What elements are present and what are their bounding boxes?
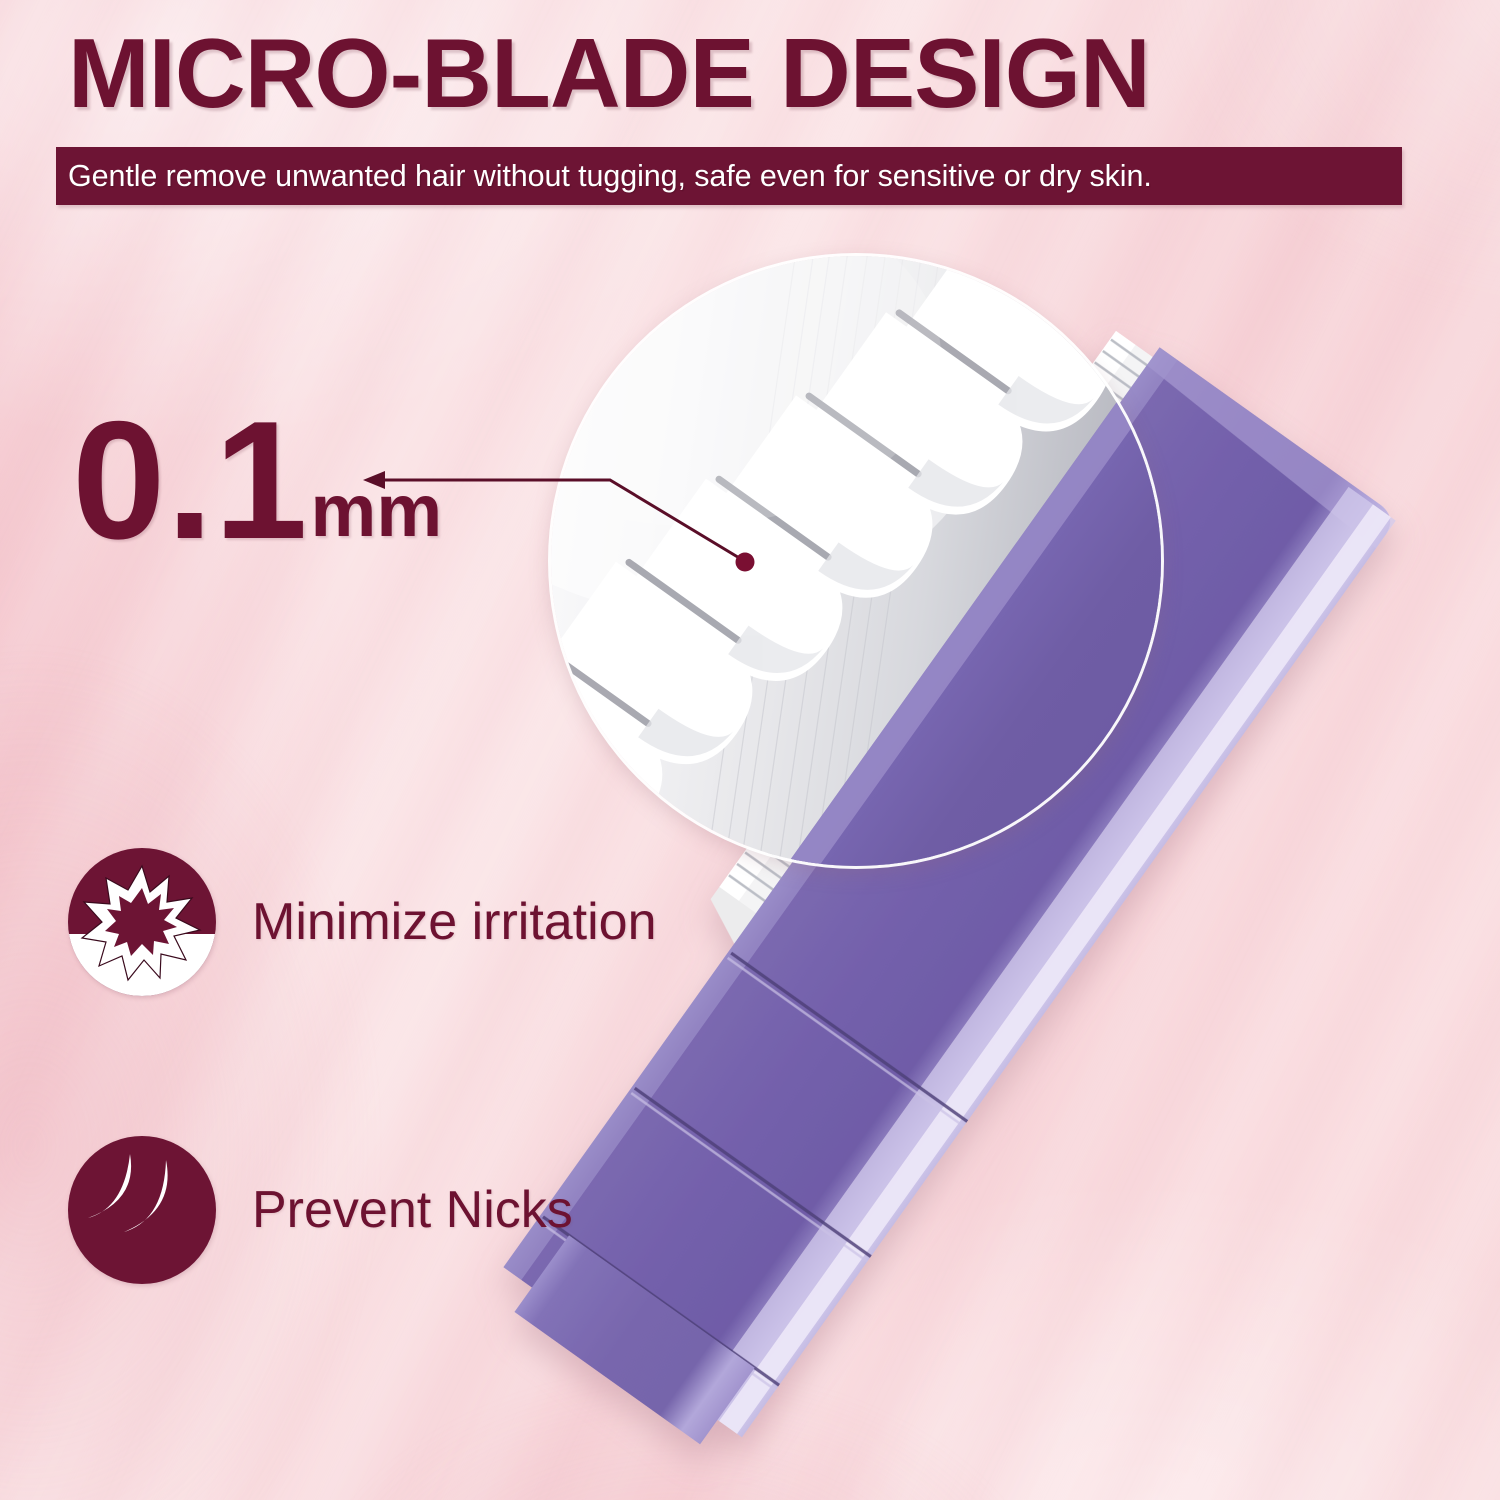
subtitle-banner: Gentle remove unwanted hair without tugg… (56, 147, 1402, 205)
blade-teeth-magnifier (551, 256, 1161, 866)
feature-label: Prevent Nicks (252, 1180, 573, 1240)
subtitle-text: Gentle remove unwanted hair without tugg… (56, 159, 1152, 194)
feature-label: Minimize irritation (252, 892, 657, 952)
irritation-burst-icon (68, 848, 216, 996)
product-infographic: MICRO-BLADE DESIGN Gentle remove unwante… (0, 0, 1500, 1500)
thickness-unit: mm (311, 474, 443, 548)
thickness-value: 0.1 (72, 396, 309, 564)
blade-thickness-label: 0.1 mm (72, 396, 442, 564)
page-title: MICRO-BLADE DESIGN (68, 22, 1150, 125)
feature-minimize-irritation: Minimize irritation (68, 848, 657, 996)
smooth-skin-curves-icon (68, 1136, 216, 1284)
feature-prevent-nicks: Prevent Nicks (68, 1136, 573, 1284)
